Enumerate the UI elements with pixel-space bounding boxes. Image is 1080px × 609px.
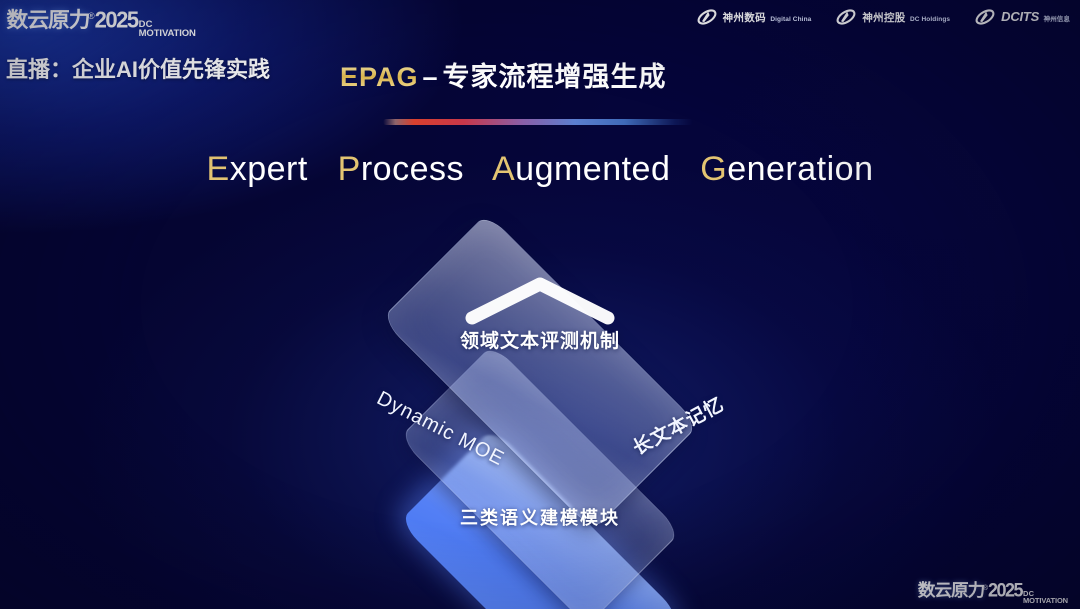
partner-name-cn: 神州控股 [862,12,905,24]
swirl-icon [974,6,996,28]
brand-name-cn: 数云原力 [6,4,89,34]
subtitle-word-augmented: Augmented [492,150,670,188]
slide-canvas: 数云原力 ® 2025 DC MOTIVATION 直播：企业AI价值先锋实践 … [0,0,1080,609]
watermark-motivation: MOTIVATION [1023,598,1068,605]
subtitle-initial: P [338,150,361,188]
diagram-layer-top [296,222,784,382]
layer-label-top: 领域文本评测机制 [460,326,620,353]
subtitle-word-generation: Generation [700,150,873,188]
brand-dc-motivation: DC MOTIVATION [139,21,196,38]
subtitle: Expert Process Augmented Generation [0,150,1080,189]
layer-stack-diagram: 领域文本评测机制 Dynamic MOE 长文本记忆 三类语义建模模块 [296,222,784,572]
page-title: EPAG–专家流程增强生成 [340,55,667,94]
layer-label-bottom: 三类语义建模模块 [460,504,620,530]
footer-watermark: 数云原力 ® 2025 DC MOTIVATION [919,576,1068,605]
brand-motivation: MOTIVATION [139,30,196,39]
subtitle-word-process: Process [338,150,464,188]
watermark-year: 2025 [988,580,1022,602]
watermark-name-cn: 数云原力 [918,576,985,601]
page-title-acronym: EPAG [340,62,419,92]
partner-logo-text: 神州数码 Digital China [723,9,812,25]
partner-logo-text: DCITS 神州信息 [1001,9,1070,25]
live-stream-label: 直播：企业AI价值先锋实践 [6,52,270,84]
page-title-chinese: 专家流程增强生成 [443,62,667,92]
subtitle-rest: xpert [230,150,308,188]
subtitle-word-expert: Expert [207,150,308,188]
brand-year: 2025 [95,6,138,34]
partner-logo-text: 神州控股 DC Holdings [862,9,950,25]
brand-registered-mark: ® [88,11,95,21]
subtitle-rest: rocess [361,150,464,188]
subtitle-initial: G [700,150,727,188]
watermark-dc-motivation: DC MOTIVATION [1023,591,1068,605]
partner-logo-dc-holdings: 神州控股 DC Holdings [835,6,950,28]
partner-logo-digital-china: 神州数码 Digital China [696,6,812,28]
partner-name-en: DC Holdings [910,16,950,23]
partner-name-cn: 神州数码 [723,12,766,24]
swirl-icon [835,6,857,28]
brand-logo: 数云原力 ® 2025 DC MOTIVATION [8,4,196,30]
partner-logo-dcits: DCITS 神州信息 [974,6,1070,28]
subtitle-initial: E [207,150,230,188]
subtitle-space [474,150,484,188]
subtitle-rest: ugmented [515,150,670,188]
partner-name-en: Digital China [770,16,811,23]
subtitle-space [318,150,328,188]
gradient-divider [383,119,693,125]
partner-name-cn: 神州信息 [1044,16,1070,23]
page-title-dash: – [419,62,443,92]
partner-name-en: DCITS [1001,9,1039,24]
partner-logo-group: 神州数码 Digital China 神州控股 DC Holdings [696,6,1070,28]
subtitle-space [680,150,690,188]
swirl-icon [696,6,718,28]
subtitle-initial: A [492,150,515,188]
subtitle-rest: eneration [727,150,873,188]
